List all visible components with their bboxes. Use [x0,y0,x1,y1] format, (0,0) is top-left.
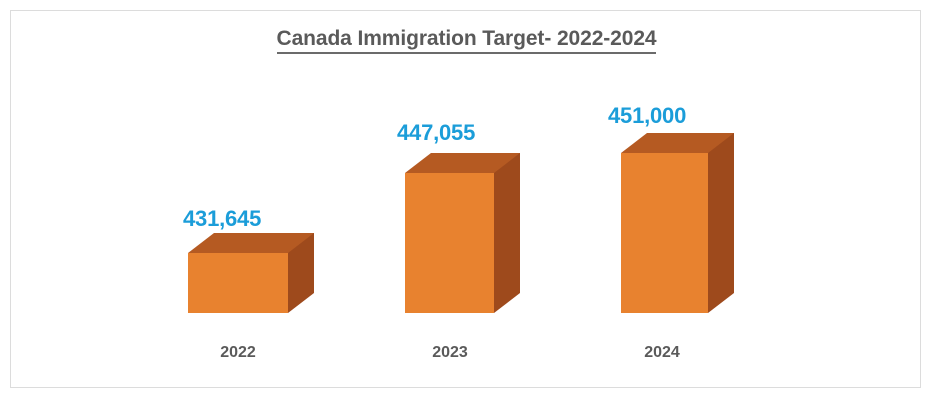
plot-area: 431,6452022447,0552023451,0002024 [0,0,933,405]
chart-container: Canada Immigration Target- 2022-2024 431… [0,0,933,405]
category-label-2024: 2024 [612,344,712,362]
bar-value-label-2024: 451,000 [608,103,686,129]
category-label-2023: 2023 [400,344,500,362]
bar-2024[interactable] [621,133,734,313]
bar-value-label-2022: 431,645 [183,206,261,232]
bar-side-face [494,153,520,313]
bar-side-face [708,133,734,313]
category-label-2022: 2022 [188,344,288,362]
bar-front-face [405,173,494,313]
bar-value-label-2023: 447,055 [397,120,475,146]
bar-front-face [621,153,708,313]
bar-2022[interactable] [188,233,314,313]
bar-2023[interactable] [405,153,520,313]
bar-front-face [188,253,288,313]
